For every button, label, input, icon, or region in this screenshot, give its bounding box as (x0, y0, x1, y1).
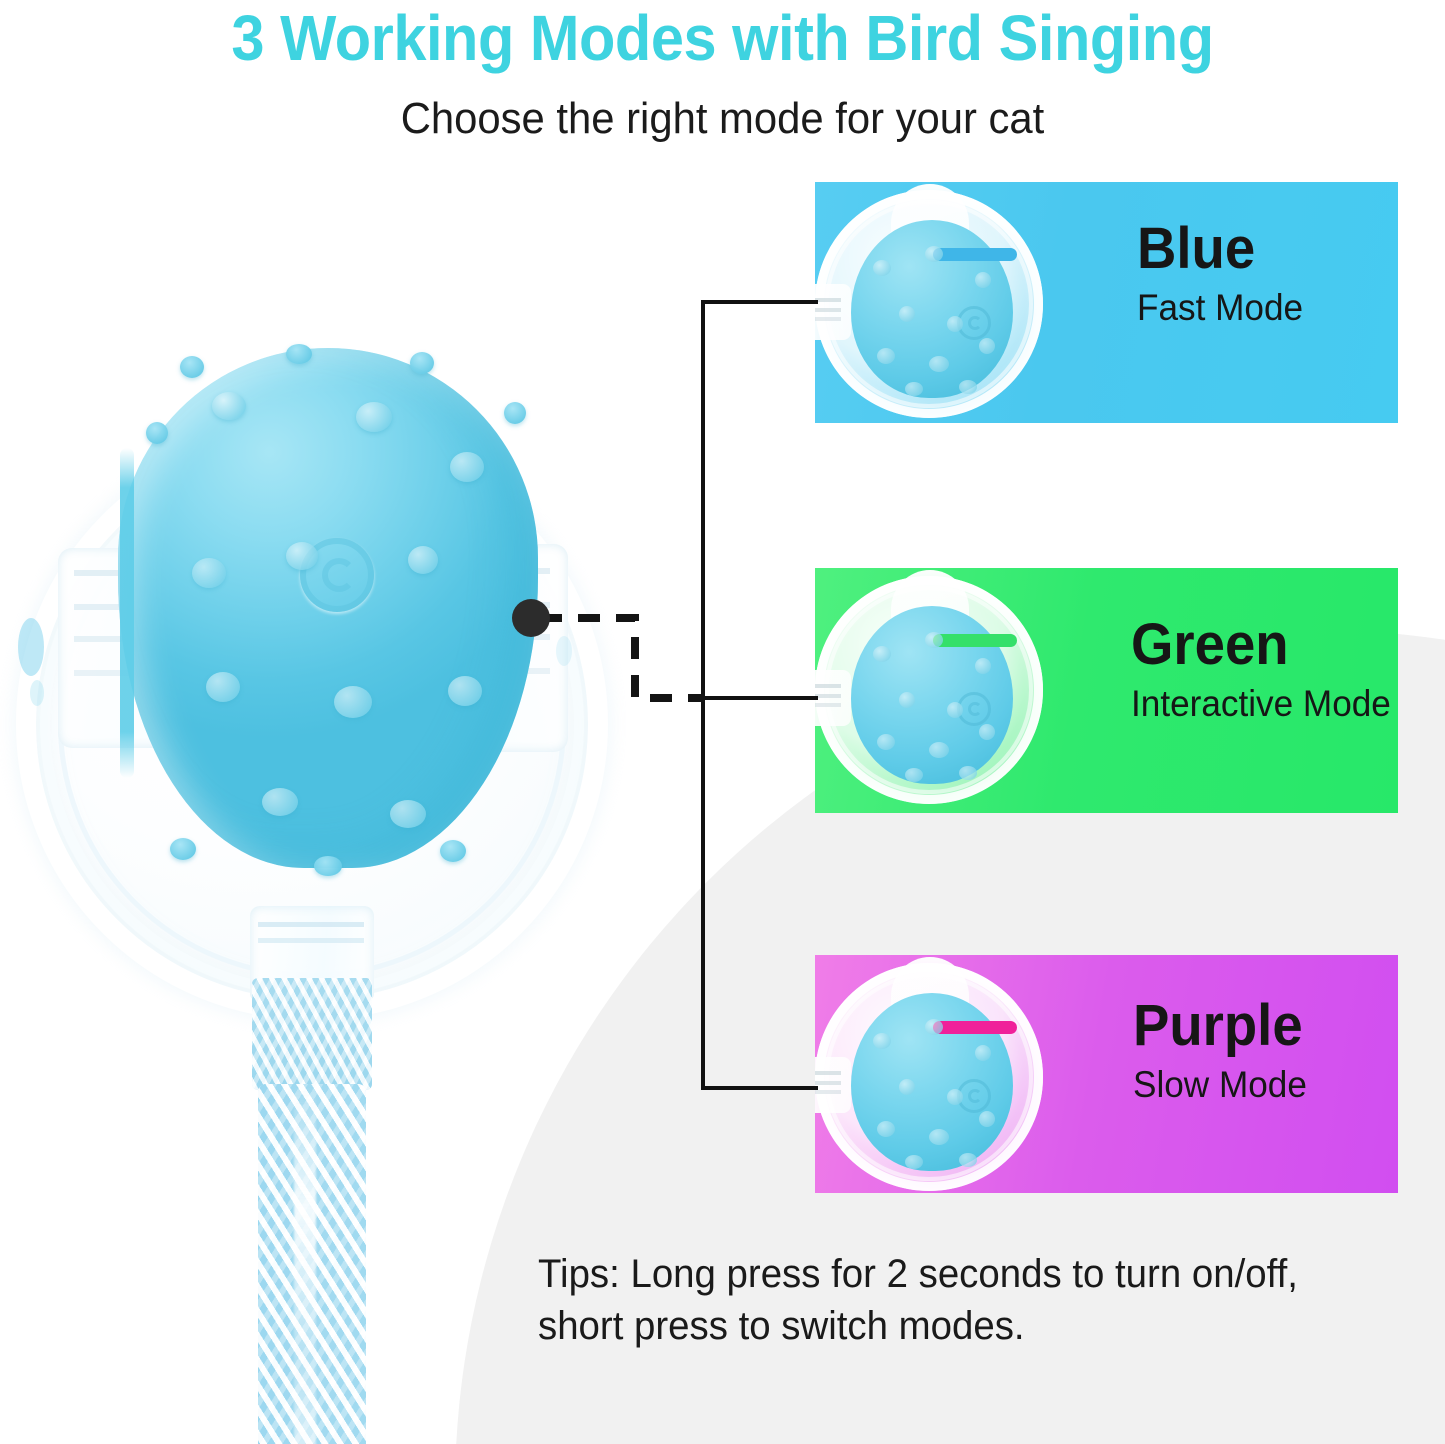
infographic-canvas: 3 Working Modes with Bird Singing Choose… (0, 0, 1445, 1444)
tips-text: Tips: Long press for 2 seconds to turn o… (538, 1248, 1210, 1352)
shell-glint (30, 680, 44, 706)
mini-product-blue (815, 188, 1055, 420)
shell-glint (556, 636, 572, 666)
mini-product-green (815, 574, 1055, 806)
mode-description: Slow Mode (1133, 1063, 1371, 1107)
led-indicator-blue (933, 248, 1017, 261)
mode-description: Fast Mode (1137, 286, 1375, 330)
page-title: 3 Working Modes with Bird Singing (51, 2, 1395, 74)
led-indicator-green (933, 634, 1017, 647)
mode-card-text-blue: Blue Fast Mode (1137, 218, 1387, 330)
shell-glint (18, 618, 44, 676)
page-subtitle: Choose the right mode for your cat (36, 93, 1409, 145)
mode-card-blue[interactable]: Blue Fast Mode (815, 182, 1398, 423)
silicone-cover (118, 348, 538, 868)
mode-card-text-purple: Purple Slow Mode (1133, 995, 1383, 1107)
mode-card-purple[interactable]: Purple Slow Mode (815, 955, 1398, 1193)
tips-line-2: short press to switch modes. (538, 1300, 1210, 1352)
cover-seam (120, 448, 134, 778)
mode-name: Blue (1137, 218, 1372, 280)
mode-description: Interactive Mode (1131, 682, 1369, 726)
braided-tail (258, 1084, 366, 1444)
tail-sleeve (252, 978, 372, 1090)
tips-line-1: Tips: Long press for 2 seconds to turn o… (538, 1248, 1210, 1300)
mode-card-text-green: Green Interactive Mode (1131, 614, 1381, 726)
led-indicator-purple (933, 1021, 1017, 1034)
mode-name: Purple (1133, 995, 1368, 1057)
mini-product-purple (815, 961, 1055, 1193)
mode-card-green[interactable]: Green Interactive Mode (815, 568, 1398, 813)
mode-name: Green (1131, 614, 1366, 676)
